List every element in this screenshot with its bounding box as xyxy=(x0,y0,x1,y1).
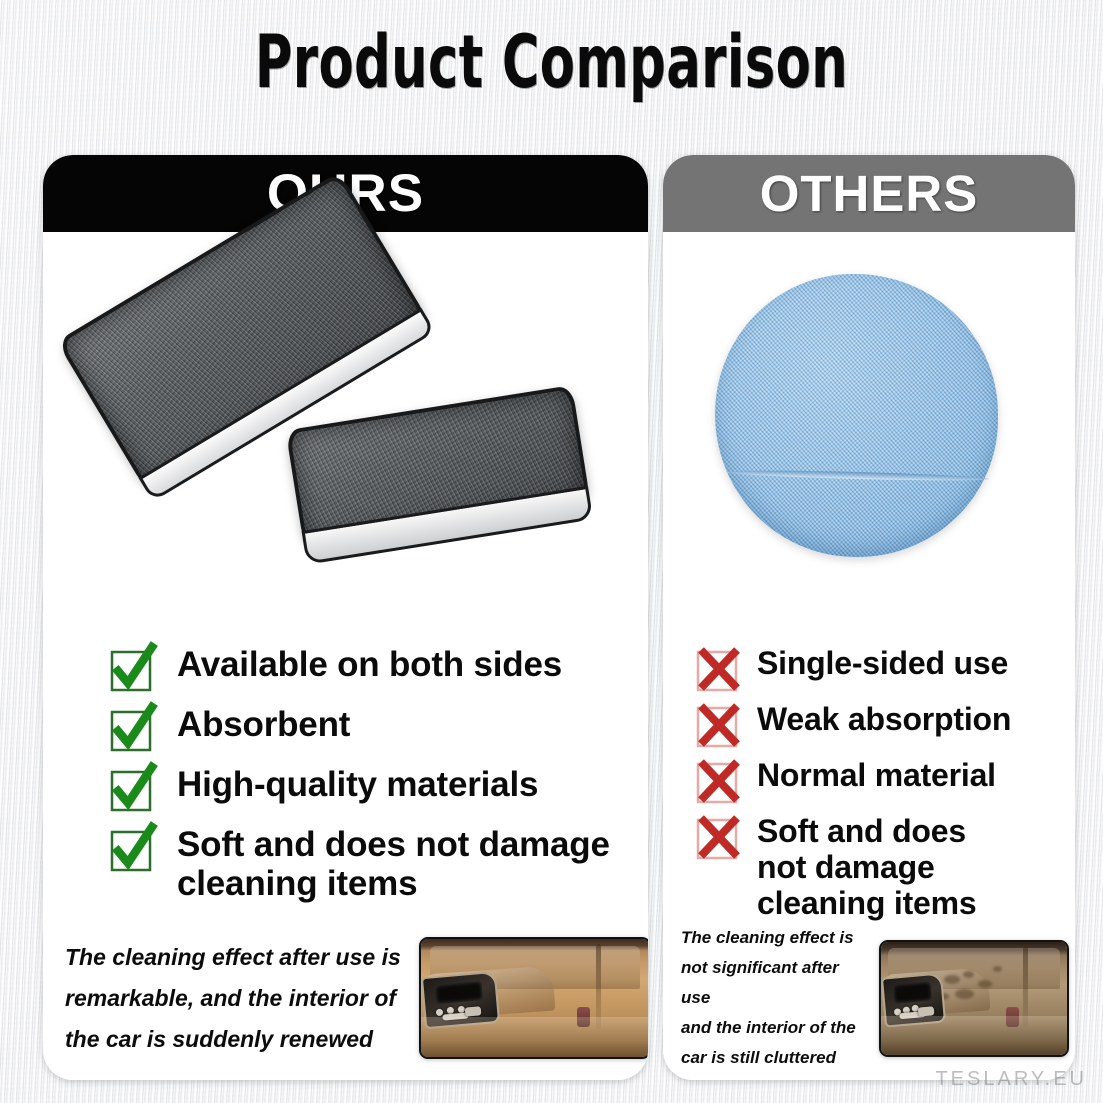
feature-list-others: Single-sided use Weak absorption Normal … xyxy=(663,637,1075,921)
comparison-card-ours: OURS Available on both sides Absorbent xyxy=(43,155,648,1080)
feature-row: High-quality materials xyxy=(111,765,648,808)
check-icon xyxy=(111,650,149,688)
comparison-card-others: OTHERS Single-sided use Weak abs xyxy=(663,155,1075,1080)
caption-line: car is still cluttered xyxy=(681,1043,869,1073)
feature-row: Weak absorption xyxy=(697,701,1075,744)
feature-row: Available on both sides xyxy=(111,645,648,688)
feature-label: Available on both sides xyxy=(177,645,562,684)
caption-ours: The cleaning effect after use is remarka… xyxy=(65,937,405,1060)
caption-line: remarkable, and the interior of xyxy=(65,978,405,1019)
check-icon xyxy=(111,710,149,748)
cross-icon xyxy=(697,706,735,744)
caption-line: The cleaning effect after use is xyxy=(65,937,405,978)
check-icon xyxy=(111,830,149,868)
card-footer-ours: The cleaning effect after use is remarka… xyxy=(43,930,648,1080)
product-image-others xyxy=(663,232,1075,637)
feature-label: Normal material xyxy=(757,757,996,793)
feature-label: Single-sided use xyxy=(757,645,1008,681)
dirty-car-interior-thumbnail xyxy=(879,940,1069,1057)
feature-label: High-quality materials xyxy=(177,765,538,804)
feature-row: Soft and does not damage cleaning items xyxy=(111,825,648,903)
feature-label: Soft and does not damage cleaning items xyxy=(177,825,632,903)
check-icon xyxy=(111,770,149,808)
cross-icon xyxy=(697,818,735,856)
sponge-pad-front xyxy=(286,385,591,547)
feature-row: Single-sided use xyxy=(697,645,1075,688)
caption-line: The cleaning effect is xyxy=(681,923,869,953)
page-title: Product Comparison xyxy=(121,26,981,99)
feature-row: Absorbent xyxy=(111,705,648,748)
caption-line: not significant after use xyxy=(681,953,869,1013)
watermark: TESLARY.EU xyxy=(935,1068,1087,1091)
caption-line: the car is suddenly renewed xyxy=(65,1019,405,1060)
blue-round-pad xyxy=(715,274,998,557)
card-header-others: OTHERS xyxy=(663,155,1075,232)
caption-others: The cleaning effect is not significant a… xyxy=(681,923,869,1073)
cross-icon xyxy=(697,762,735,800)
cross-icon xyxy=(697,650,735,688)
product-image-ours xyxy=(43,232,648,637)
feature-label: Absorbent xyxy=(177,705,350,744)
pad-seam xyxy=(726,469,989,483)
card-header-label-others: OTHERS xyxy=(760,168,979,219)
feature-row: Soft and does not damage cleaning items xyxy=(697,813,1075,921)
feature-label: Weak absorption xyxy=(757,701,1011,737)
feature-row: Normal material xyxy=(697,757,1075,800)
card-footer-others: The cleaning effect is not significant a… xyxy=(663,930,1075,1080)
clean-car-interior-thumbnail xyxy=(419,937,648,1059)
caption-line: and the interior of the xyxy=(681,1013,869,1043)
feature-list-ours: Available on both sides Absorbent High-q… xyxy=(43,637,648,903)
feature-label: Soft and does not damage cleaning items xyxy=(757,813,1007,921)
